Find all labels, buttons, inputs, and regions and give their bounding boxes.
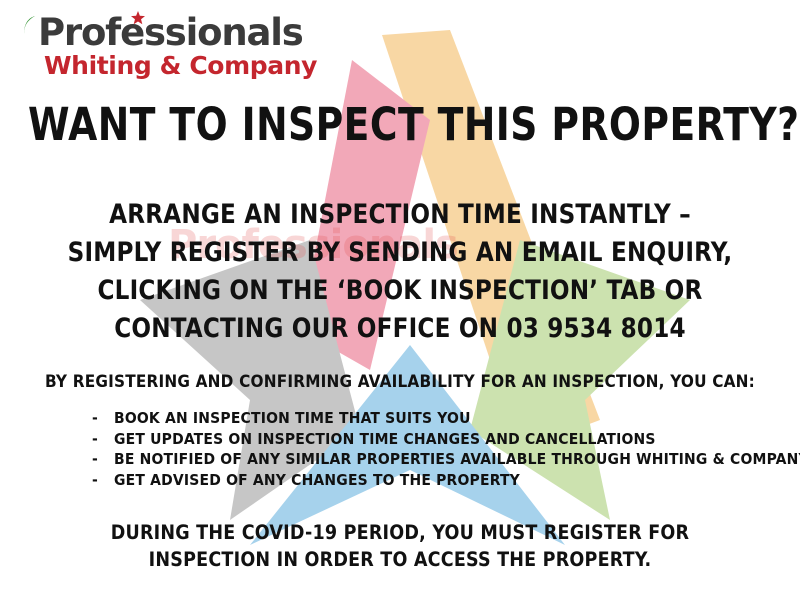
flyer-content: WANT TO INSPECT THIS PROPERTY?? ARRANGE … [0, 0, 800, 600]
star-icon [131, 11, 145, 25]
logo-brand-name: Professionals [24, 14, 317, 51]
page-title: WANT TO INSPECT THIS PROPERTY?? [28, 98, 772, 151]
list-item: -GET UPDATES ON INSPECTION TIME CHANGES … [92, 429, 800, 450]
flyer-canvas: Professionals Professionals Whiting & Co… [0, 0, 800, 600]
list-item: -BE NOTIFIED OF ANY SIMILAR PROPERTIES A… [92, 449, 800, 470]
logo-office-name: Whiting & Company [24, 53, 317, 78]
list-item-label: BE NOTIFIED OF ANY SIMILAR PROPERTIES AV… [114, 450, 800, 468]
bullet-marker: - [92, 470, 114, 491]
list-item: -GET ADVISED OF ANY CHANGES TO THE PROPE… [92, 470, 800, 491]
benefits-list: -BOOK AN INSPECTION TIME THAT SUITS YOU … [92, 408, 800, 490]
list-item-label: GET ADVISED OF ANY CHANGES TO THE PROPER… [114, 471, 520, 489]
covid-notice: DURING THE COVID-19 PERIOD, YOU MUST REG… [60, 519, 740, 573]
company-logo: Professionals Whiting & Company [24, 14, 317, 78]
list-item: -BOOK AN INSPECTION TIME THAT SUITS YOU [92, 408, 800, 429]
benefits-intro-text: BY REGISTERING AND CONFIRMING AVAILABILI… [0, 372, 800, 392]
bullet-marker: - [92, 449, 114, 470]
bullet-marker: - [92, 429, 114, 450]
bullet-marker: - [92, 408, 114, 429]
lead-paragraph: ARRANGE AN INSPECTION TIME INSTANTLY – S… [65, 196, 734, 348]
list-item-label: BOOK AN INSPECTION TIME THAT SUITS YOU [114, 409, 471, 427]
leaf-icon [24, 16, 36, 34]
list-item-label: GET UPDATES ON INSPECTION TIME CHANGES A… [114, 430, 656, 448]
